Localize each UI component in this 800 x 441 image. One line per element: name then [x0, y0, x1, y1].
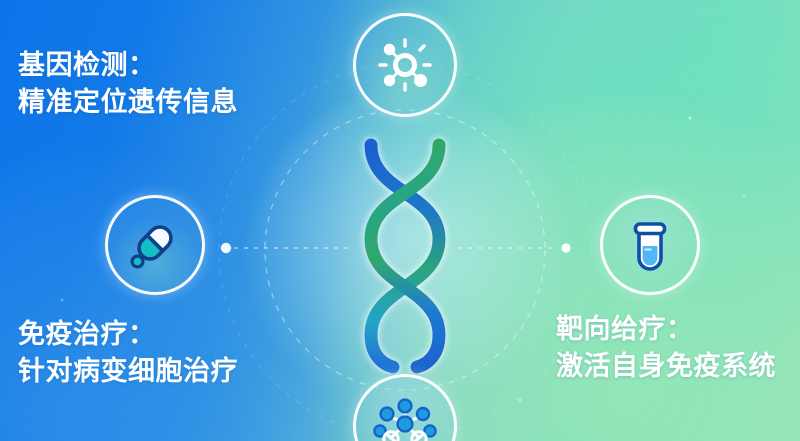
capsule-pill-icon: [124, 214, 186, 276]
callout-subtitle-targeted-therapy: 激活自身免疫系统: [556, 348, 776, 385]
callout-text-gene-testing: 基因检测： 精准定位遗传信息: [18, 47, 238, 121]
callout-title-gene-testing: 基因检测：: [18, 47, 238, 84]
molecule-network-icon: [369, 390, 441, 441]
infographic-canvas: 基因检测： 精准定位遗传信息 免疫治疗： 针对病变细胞治疗 靶向给疗： 激活自身…: [0, 0, 800, 441]
molecule-nodes: [374, 400, 435, 441]
tube-cap: [636, 224, 665, 234]
callout-title-immunotherapy: 免疫治疗：: [18, 316, 238, 353]
dna-double-helix: [341, 131, 469, 374]
callout-title-targeted-therapy: 靶向给疗：: [556, 311, 776, 348]
callout-text-targeted-therapy: 靶向给疗： 激活自身免疫系统: [556, 311, 776, 385]
callout-icon-immunotherapy[interactable]: [105, 195, 205, 295]
capsule-bubble: [132, 256, 143, 267]
test-tube-icon: [620, 215, 680, 275]
callout-subtitle-gene-testing: 精准定位遗传信息: [18, 84, 238, 121]
callout-subtitle-immunotherapy: 针对病变细胞治疗: [18, 353, 238, 390]
callout-icon-gene-testing[interactable]: [353, 13, 457, 117]
cell-nucleus-icon: [373, 33, 437, 97]
callout-text-immunotherapy: 免疫治疗： 针对病变细胞治疗: [18, 316, 238, 390]
callout-icon-targeted-therapy[interactable]: [600, 195, 700, 295]
